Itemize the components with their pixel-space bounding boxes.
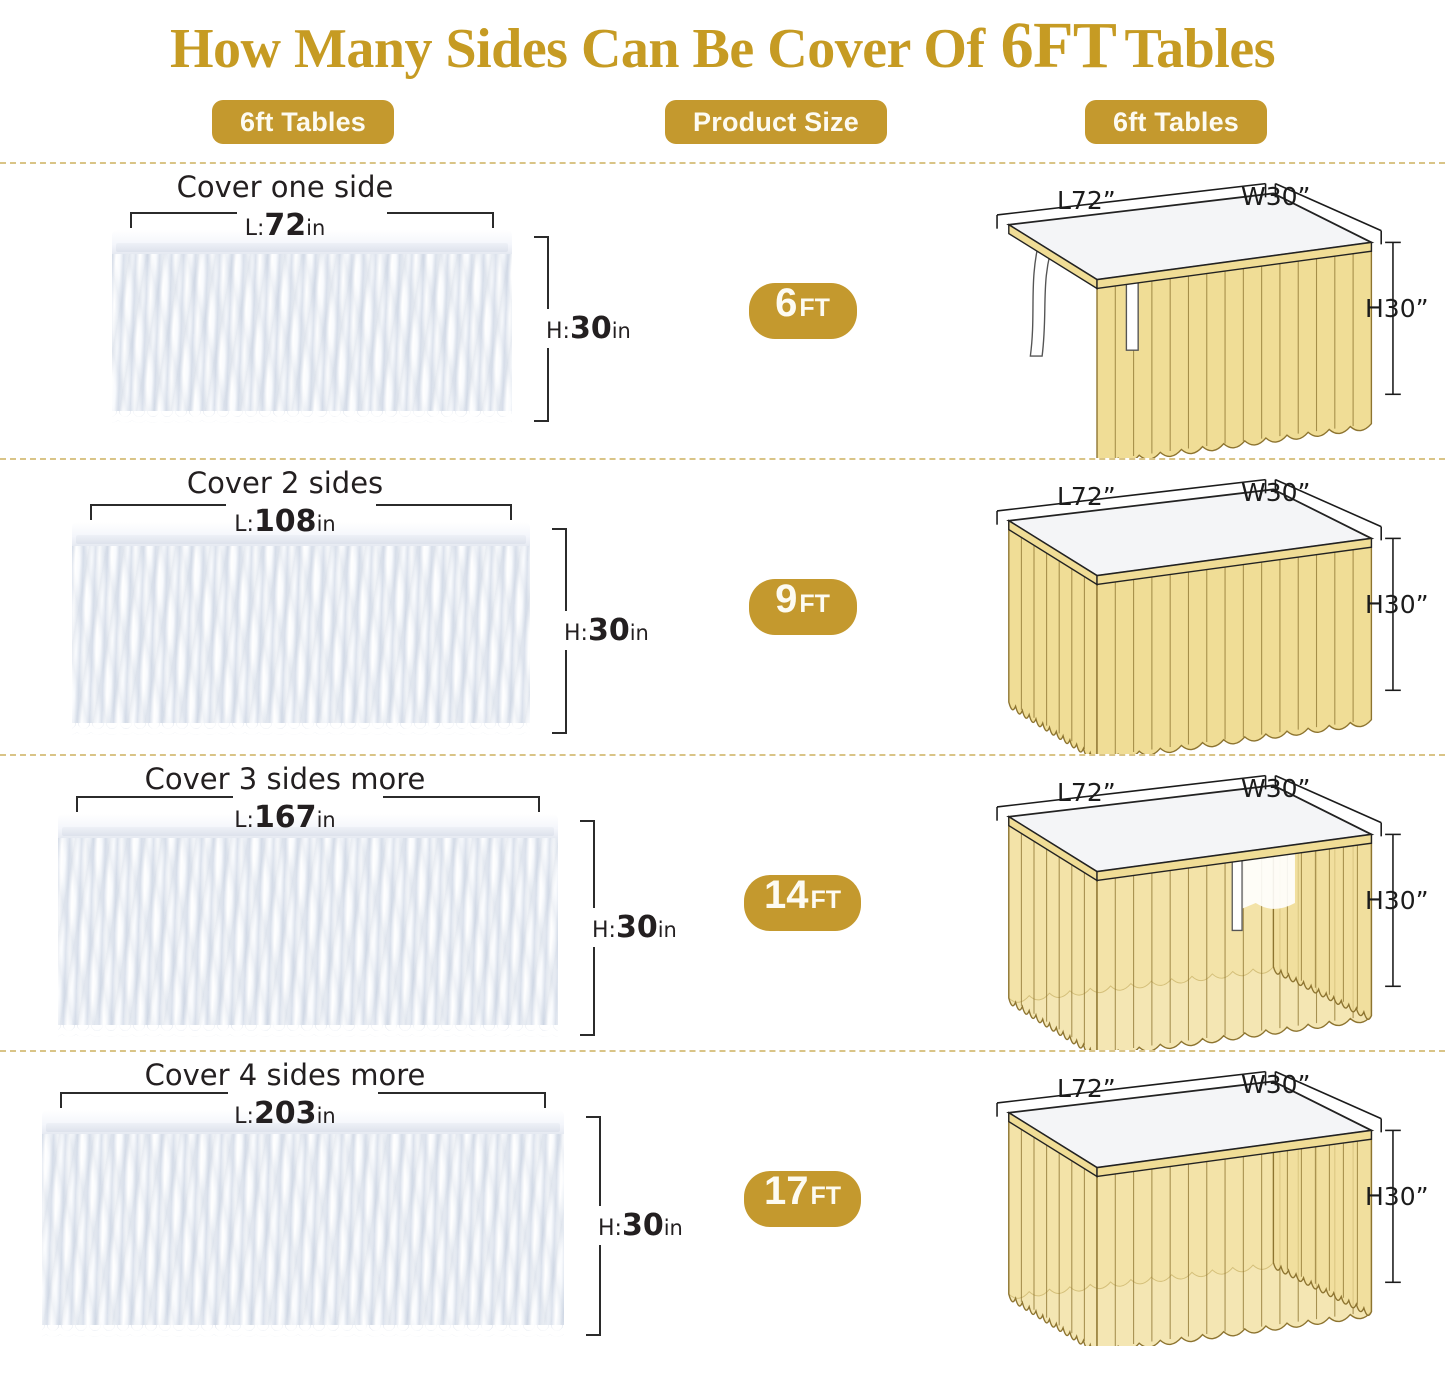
column-header-left: 6ft Tables [212,100,394,144]
length-prefix: L: [234,512,254,537]
product-size-cell: 17FT [660,1052,945,1346]
left-product-cell: Cover 4 sides more L:203in H:30in [0,1052,660,1346]
height-prefix: H: [598,1216,622,1241]
page-title-emphasis: 6FT [1001,8,1117,84]
comparison-row: Cover 4 sides more L:203in H:30in 17FT [0,1050,1445,1346]
diagram-length-label: L72” [1057,482,1116,511]
badge-unit: FT [799,296,830,321]
height-prefix: H: [592,918,616,943]
white-table-skirt-image [42,1110,564,1342]
height-value: 30 [616,910,658,945]
height-prefix: H: [564,621,588,646]
height-unit: in [630,621,649,645]
diagram-height-label: H30” [1365,886,1429,915]
height-unit: in [612,319,631,343]
height-value: 30 [622,1208,664,1243]
cover-sides-label: Cover 3 sides more [0,762,570,796]
page-title: How Many Sides Can Be Cover Of 6FT Table… [170,8,1275,84]
length-dimension-label: L:203in [0,1096,570,1131]
diagram-width-label: W30” [1241,774,1310,803]
product-size-badge: 9FT [749,579,857,635]
right-diagram-cell: L72” W30” H30” [945,460,1445,754]
badge-number: 17 [764,1171,809,1211]
curly-willow-skirt [112,254,512,428]
comparison-row: Cover 3 sides more L:167in H:30in 14FT [0,754,1445,1050]
right-diagram-cell: L72” W30” H30” [945,164,1445,458]
badge-unit: FT [810,1184,841,1209]
length-unit: in [317,1104,336,1128]
height-dimension-label: H:30in [598,1206,683,1245]
left-product-cell: Cover one side L:72in H:30in [0,164,660,458]
length-prefix: L: [245,216,265,241]
length-value: 108 [254,504,317,539]
product-size-badge: 17FT [744,1171,861,1227]
badge-unit: FT [799,592,830,617]
white-table-skirt-image [112,230,512,428]
height-unit: in [658,918,677,942]
length-prefix: L: [234,1104,254,1129]
comparison-rows: Cover one side L:72in H:30in 6FT [0,162,1445,1346]
comparison-row: Cover 2 sides L:108in H:30in 9FT [0,458,1445,754]
height-unit: in [664,1216,683,1240]
diagram-width-label: W30” [1241,1070,1310,1099]
diagram-height-label: H30” [1365,1182,1429,1211]
white-table-skirt-image [72,522,530,740]
length-value: 167 [254,800,317,835]
badge-unit: FT [810,888,841,913]
height-value: 30 [570,311,612,346]
cover-sides-label: Cover 4 sides more [0,1058,570,1092]
curly-willow-skirt [58,838,558,1042]
diagram-width-label: W30” [1241,182,1310,211]
diagram-width-label: W30” [1241,478,1310,507]
badge-number: 14 [764,875,809,915]
height-dimension-label: H:30in [546,309,631,348]
length-value: 72 [264,208,306,243]
diagram-length-label: L72” [1057,1074,1116,1103]
product-size-badge: 6FT [749,283,857,339]
page-title-tail: Tables [1124,17,1275,81]
right-diagram-cell: L72” W30” H30” [945,756,1445,1050]
column-header-row: 6ft Tables Product Size 6ft Tables [0,86,1445,162]
height-prefix: H: [546,319,570,344]
page-title-main: How Many Sides Can Be Cover Of [170,17,985,81]
height-dimension-label: H:30in [592,908,677,947]
product-size-cell: 14FT [660,756,945,1050]
length-unit: in [317,512,336,536]
curly-willow-skirt [72,546,530,740]
height-dimension-label: H:30in [564,611,649,650]
curly-willow-skirt [42,1134,564,1342]
comparison-row: Cover one side L:72in H:30in 6FT [0,162,1445,458]
cover-sides-label: Cover one side [0,170,570,204]
diagram-length-label: L72” [1057,778,1116,807]
badge-number: 6 [775,283,797,323]
length-dimension-label: L:72in [0,208,570,243]
diagram-height-label: H30” [1365,294,1429,323]
diagram-length-label: L72” [1057,186,1116,215]
page-header: How Many Sides Can Be Cover Of 6FT Table… [0,0,1445,86]
right-diagram-cell: L72” W30” H30” [945,1052,1445,1346]
height-value: 30 [588,613,630,648]
length-prefix: L: [234,808,254,833]
length-unit: in [306,216,325,240]
column-header-right: 6ft Tables [1085,100,1267,144]
left-product-cell: Cover 3 sides more L:167in H:30in [0,756,660,1050]
length-dimension-label: L:108in [0,504,570,539]
cover-sides-label: Cover 2 sides [0,466,570,500]
badge-number: 9 [775,579,797,619]
length-dimension-label: L:167in [0,800,570,835]
product-size-cell: 6FT [660,164,945,458]
length-value: 203 [254,1096,317,1131]
length-unit: in [317,808,336,832]
left-product-cell: Cover 2 sides L:108in H:30in [0,460,660,754]
diagram-height-label: H30” [1365,590,1429,619]
product-size-cell: 9FT [660,460,945,754]
white-table-skirt-image [58,814,558,1042]
column-header-center: Product Size [665,100,887,144]
product-size-badge: 14FT [744,875,861,931]
